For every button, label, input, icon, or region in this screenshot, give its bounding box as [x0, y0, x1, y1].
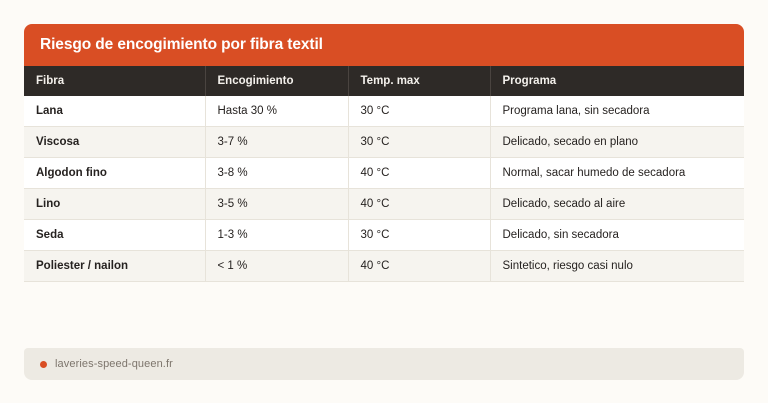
cell-encogimiento: 3-7 %: [205, 127, 348, 158]
cell-temp-max: 30 °C: [348, 127, 490, 158]
column-header-temp-max: Temp. max: [348, 66, 490, 96]
cell-programa: Normal, sacar humedo de secadora: [490, 158, 744, 189]
column-header-fibra: Fibra: [24, 66, 205, 96]
cell-temp-max: 40 °C: [348, 189, 490, 220]
cell-encogimiento: < 1 %: [205, 251, 348, 282]
cell-encogimiento: 3-5 %: [205, 189, 348, 220]
table-row: Lino 3-5 % 40 °C Delicado, secado al air…: [24, 189, 744, 220]
table-row: Algodon fino 3-8 % 40 °C Normal, sacar h…: [24, 158, 744, 189]
table-header: Fibra Encogimiento Temp. max Programa: [24, 66, 744, 96]
cell-programa: Delicado, secado al aire: [490, 189, 744, 220]
cell-fibra: Poliester / nailon: [24, 251, 205, 282]
table-row: Lana Hasta 30 % 30 °C Programa lana, sin…: [24, 96, 744, 127]
cell-temp-max: 40 °C: [348, 158, 490, 189]
shrinkage-risk-card: Riesgo de encogimiento por fibra textil …: [24, 24, 744, 282]
cell-programa: Delicado, sin secadora: [490, 220, 744, 251]
table-row: Viscosa 3-7 % 30 °C Delicado, secado en …: [24, 127, 744, 158]
source-footer: laveries-speed-queen.fr: [24, 348, 744, 380]
cell-fibra: Seda: [24, 220, 205, 251]
column-header-encogimiento: Encogimiento: [205, 66, 348, 96]
cell-fibra: Lino: [24, 189, 205, 220]
cell-temp-max: 30 °C: [348, 220, 490, 251]
table-row: Poliester / nailon < 1 % 40 °C Sintetico…: [24, 251, 744, 282]
cell-fibra: Viscosa: [24, 127, 205, 158]
cell-programa: Sintetico, riesgo casi nulo: [490, 251, 744, 282]
cell-programa: Delicado, secado en plano: [490, 127, 744, 158]
shrinkage-risk-table: Fibra Encogimiento Temp. max Programa La…: [24, 66, 744, 282]
cell-programa: Programa lana, sin secadora: [490, 96, 744, 127]
source-label: laveries-speed-queen.fr: [55, 358, 173, 370]
card-header: Riesgo de encogimiento por fibra textil: [24, 24, 744, 66]
table-row: Seda 1-3 % 30 °C Delicado, sin secadora: [24, 220, 744, 251]
cell-encogimiento: Hasta 30 %: [205, 96, 348, 127]
cell-fibra: Lana: [24, 96, 205, 127]
infographic-page: Riesgo de encogimiento por fibra textil …: [0, 0, 768, 403]
column-header-programa: Programa: [490, 66, 744, 96]
cell-fibra: Algodon fino: [24, 158, 205, 189]
cell-encogimiento: 3-8 %: [205, 158, 348, 189]
cell-temp-max: 30 °C: [348, 96, 490, 127]
table-header-row: Fibra Encogimiento Temp. max Programa: [24, 66, 744, 96]
bullet-dot-icon: [40, 361, 47, 368]
cell-encogimiento: 1-3 %: [205, 220, 348, 251]
cell-temp-max: 40 °C: [348, 251, 490, 282]
page-title: Riesgo de encogimiento por fibra textil: [40, 36, 323, 54]
table-body: Lana Hasta 30 % 30 °C Programa lana, sin…: [24, 96, 744, 282]
